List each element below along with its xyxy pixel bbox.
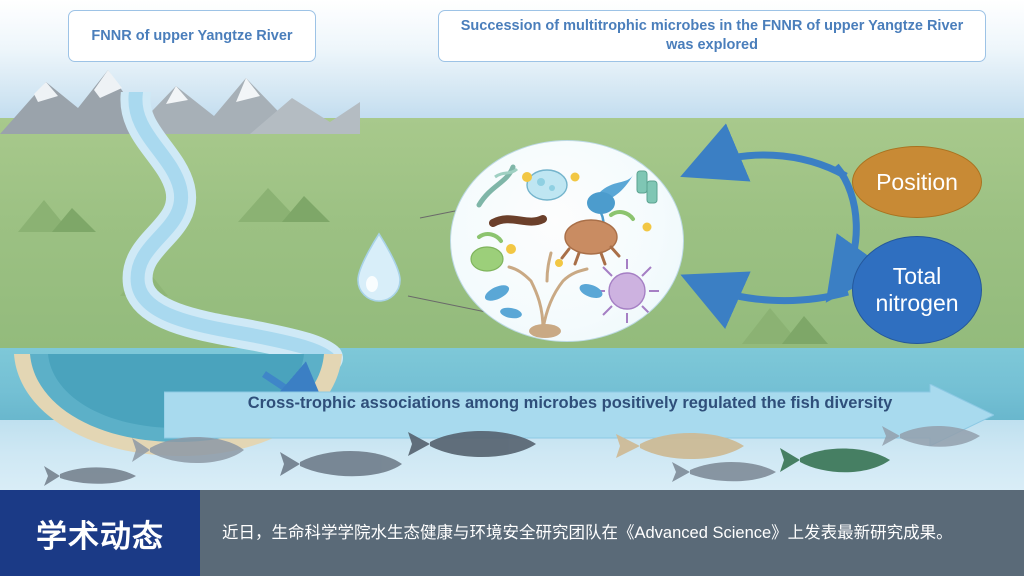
banner-label: Cross-trophic associations among microbe… [200,392,940,414]
callout-succession-label: Succession of multitrophic microbes in t… [449,17,975,55]
caption-tag: 学术动态 [0,490,200,576]
microbe-circle-icon [450,140,684,342]
fish-icon [0,418,1024,490]
ellipse-total-nitrogen: Total nitrogen [852,236,982,344]
caption-tag-label: 学术动态 [36,511,164,556]
ellipse-position-label: Position [876,169,958,196]
callout-succession: Succession of multitrophic microbes in t… [438,10,986,62]
caption-body: 近日，生命科学学院水生态健康与环境安全研究团队在《Advanced Scienc… [200,490,1024,576]
ellipse-position: Position [852,146,982,218]
hill-icon [742,300,828,349]
callout-fnnr-label: FNNR of upper Yangtze River [91,27,292,46]
ellipse-total-nitrogen-label: Total nitrogen [853,263,981,317]
graphical-abstract: Cross-trophic associations among microbe… [0,0,1024,490]
callout-fnnr: FNNR of upper Yangtze River [68,10,316,62]
caption-text: 近日，生命科学学院水生态健康与环境安全研究团队在《Advanced Scienc… [200,520,977,546]
screenshot-root: Cross-trophic associations among microbe… [0,0,1024,576]
